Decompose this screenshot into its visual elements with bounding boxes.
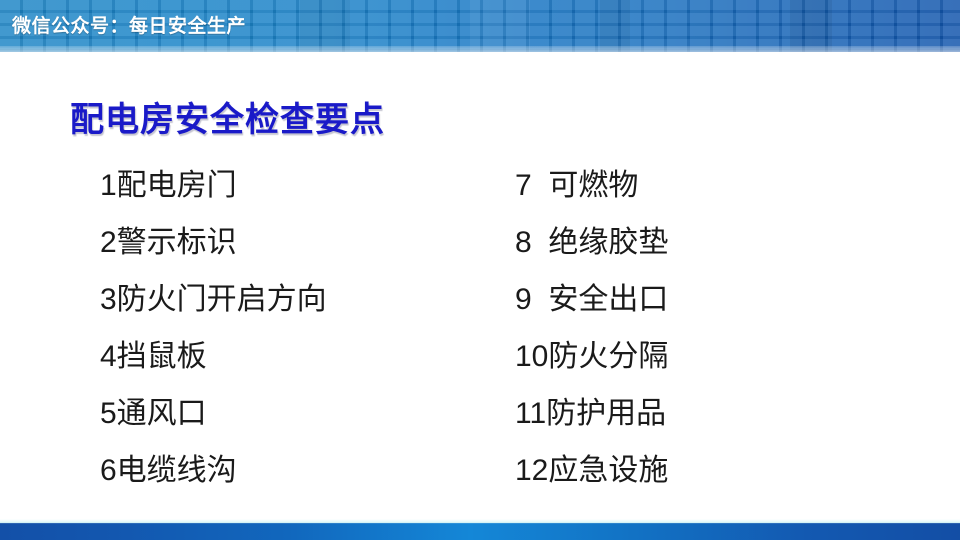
checklist-left-column: 1配电房门 2警示标识 3防火门开启方向 4挡鼠板 5通风口 6电缆线沟	[100, 163, 327, 505]
list-item: 7 可燃物	[515, 163, 668, 220]
list-item: 10防火分隔	[515, 334, 668, 391]
banner-wechat-account-text: 微信公众号：每日安全生产	[12, 11, 246, 38]
list-item: 6电缆线沟	[100, 448, 327, 505]
banner-mosaic-blotch	[600, 0, 630, 52]
checklist-right-column: 7 可燃物 8 绝缘胶垫 9 安全出口 10防火分隔 11防护用品 12应急设施	[515, 163, 668, 505]
list-item: 4挡鼠板	[100, 334, 327, 391]
banner-bottom-fade	[0, 46, 960, 52]
list-item: 11防护用品	[515, 391, 668, 448]
list-item: 2警示标识	[100, 220, 327, 277]
list-item: 3防火门开启方向	[100, 277, 327, 334]
banner-mosaic-blotch	[470, 0, 530, 52]
list-item: 8 绝缘胶垫	[515, 220, 668, 277]
slide-root: 微信公众号：每日安全生产 配电房安全检查要点 1配电房门 2警示标识 3防火门开…	[0, 0, 960, 540]
banner-mosaic-blotch	[790, 0, 832, 52]
bottom-bar	[0, 523, 960, 540]
page-title: 配电房安全检查要点	[70, 92, 385, 141]
banner-mosaic-blotch	[300, 0, 350, 52]
list-item: 5通风口	[100, 391, 327, 448]
list-item: 12应急设施	[515, 448, 668, 505]
list-item: 1配电房门	[100, 163, 327, 220]
list-item: 9 安全出口	[515, 277, 668, 334]
